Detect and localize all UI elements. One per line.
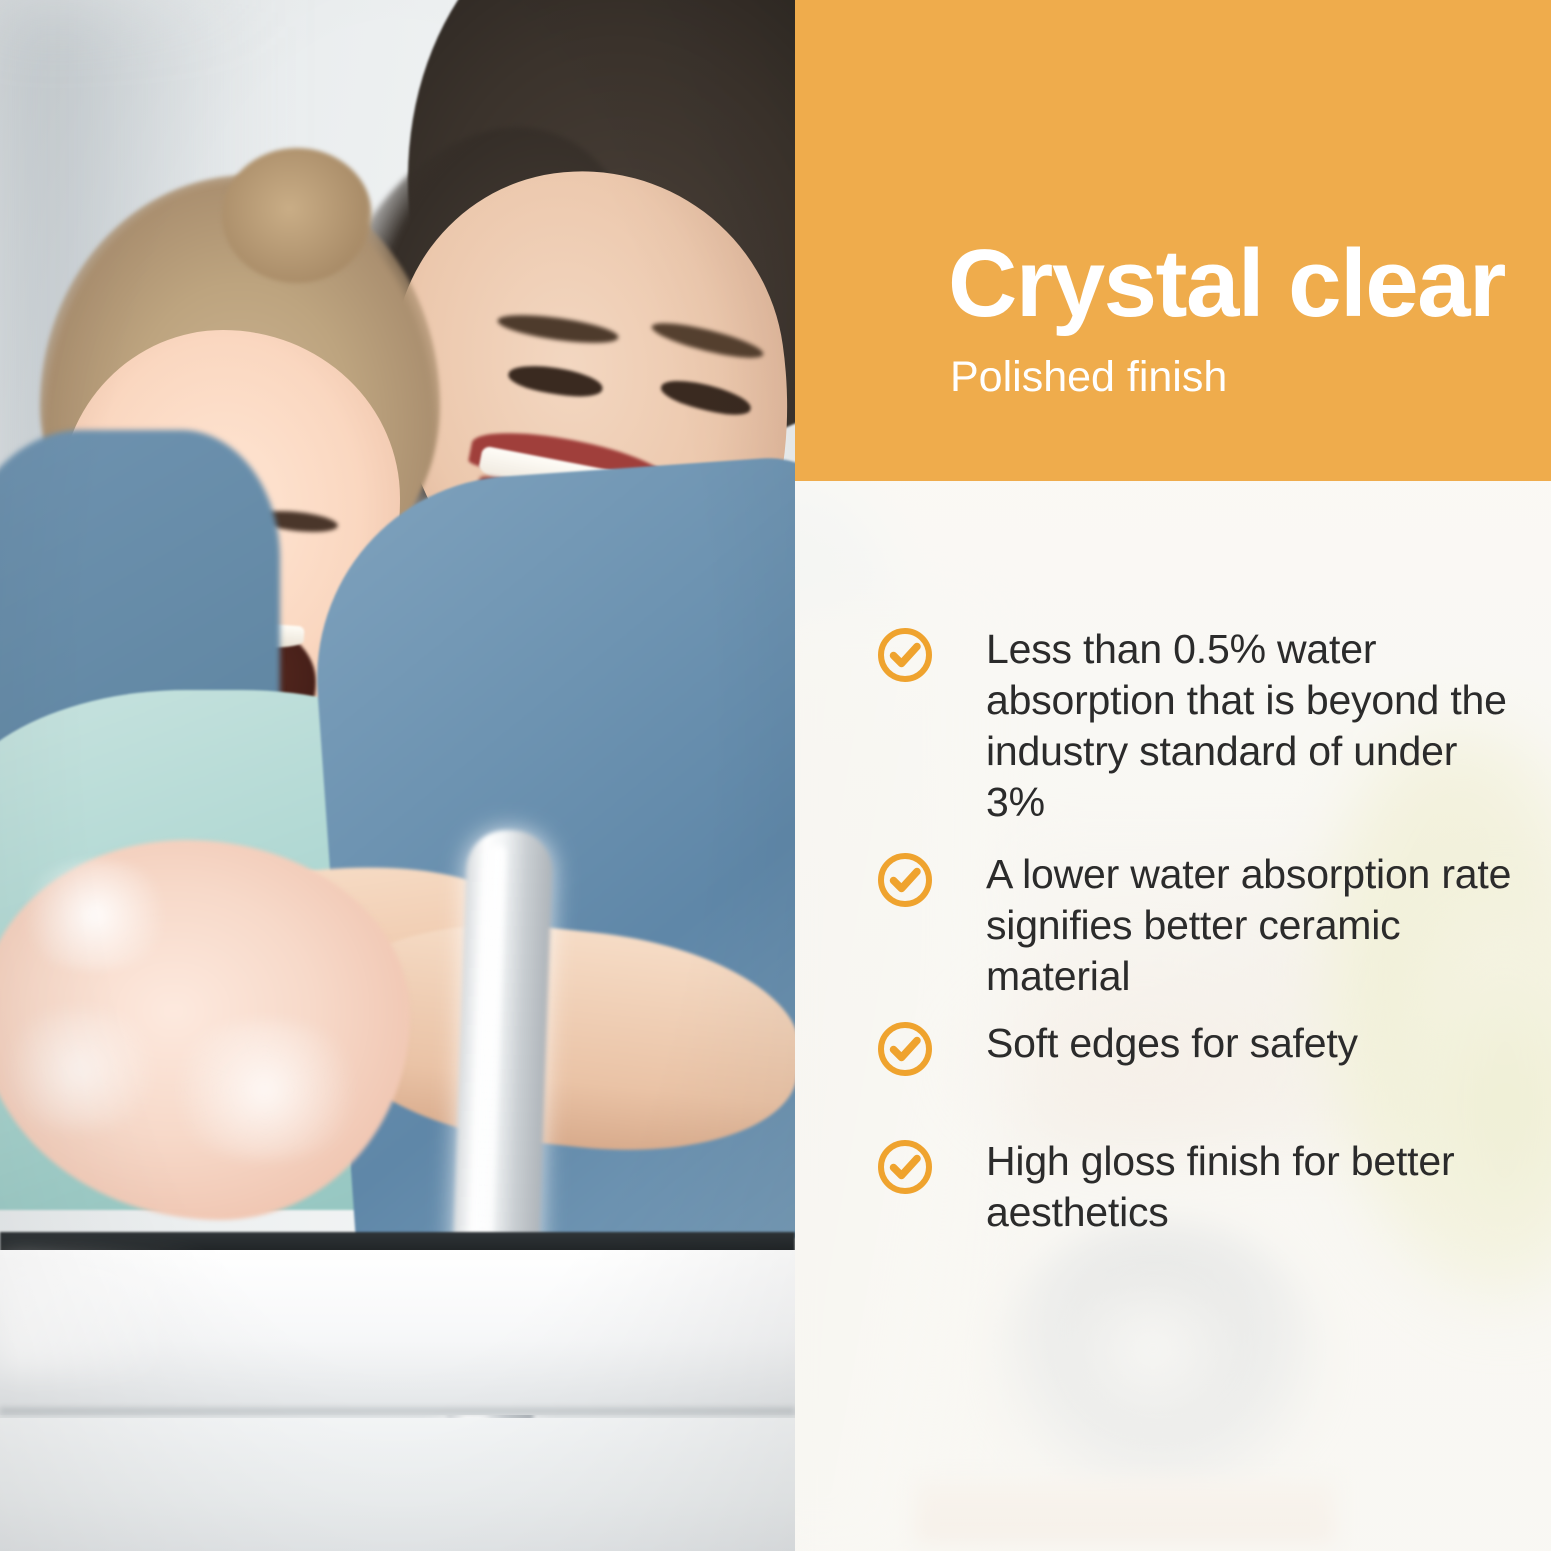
lifestyle-photo [0,0,795,1551]
soap-suds [160,1020,370,1160]
feature-item-label: High gloss finish for better aesthetics [986,1136,1516,1238]
vanity-seam [0,1408,795,1418]
feature-item-high-gloss: High gloss finish for better aesthetics [876,1136,1516,1238]
feature-list: Less than 0.5% water absorption that is … [795,481,1551,1551]
feature-item-label: Less than 0.5% water absorption that is … [986,624,1516,828]
feature-item-label: A lower water absorption rate signifies … [986,849,1516,1002]
feature-item-water-absorption: Less than 0.5% water absorption that is … [876,624,1516,828]
feature-item-ceramic-material: A lower water absorption rate signifies … [876,849,1516,1002]
check-circle-icon [876,1020,934,1078]
product-feature-banner: Crystal clear Polished finish Less than … [0,0,1551,1551]
feature-item-label: Soft edges for safety [986,1018,1358,1069]
check-circle-icon [876,626,934,684]
soap-suds [10,860,180,970]
page-title: Crystal clear [948,236,1505,332]
check-circle-icon [876,1138,934,1196]
info-panel: Crystal clear Polished finish Less than … [795,0,1551,1551]
feature-item-soft-edges: Soft edges for safety [876,1018,1516,1078]
check-circle-icon [876,851,934,909]
feature-content-area: Less than 0.5% water absorption that is … [795,481,1551,1551]
vanity-drawer [0,1418,795,1551]
page-subtitle: Polished finish [950,356,1227,399]
header-banner: Crystal clear Polished finish [795,0,1551,481]
child-hair-bun [222,148,372,283]
sink-sheen [0,1262,260,1372]
